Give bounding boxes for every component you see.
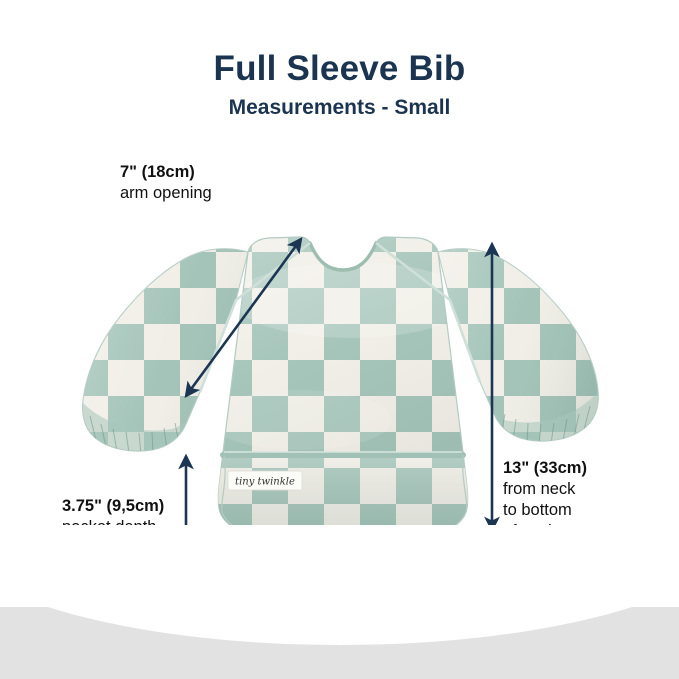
measurement-value: 3.75" (9,5cm): [62, 496, 164, 517]
brand-label-text: tiny twinkle: [235, 477, 295, 488]
measurement-desc: arm opening: [120, 183, 212, 204]
measurement-label-arm-opening: 7" (18cm) arm opening: [120, 162, 212, 204]
measurement-desc-line-2: to bottom: [503, 500, 587, 521]
page-title: Full Sleeve Bib: [0, 50, 679, 87]
measurement-value: 13" (33cm): [503, 458, 587, 479]
measurement-infographic: tiny twinkle Full Sleeve Bib Measurement…: [0, 0, 679, 679]
page-subtitle: Measurements - Small: [0, 96, 679, 119]
measurement-value: 7" (18cm): [120, 162, 212, 183]
measurement-desc-line-1: from neck: [503, 479, 587, 500]
brand-label: tiny twinkle: [228, 471, 302, 490]
